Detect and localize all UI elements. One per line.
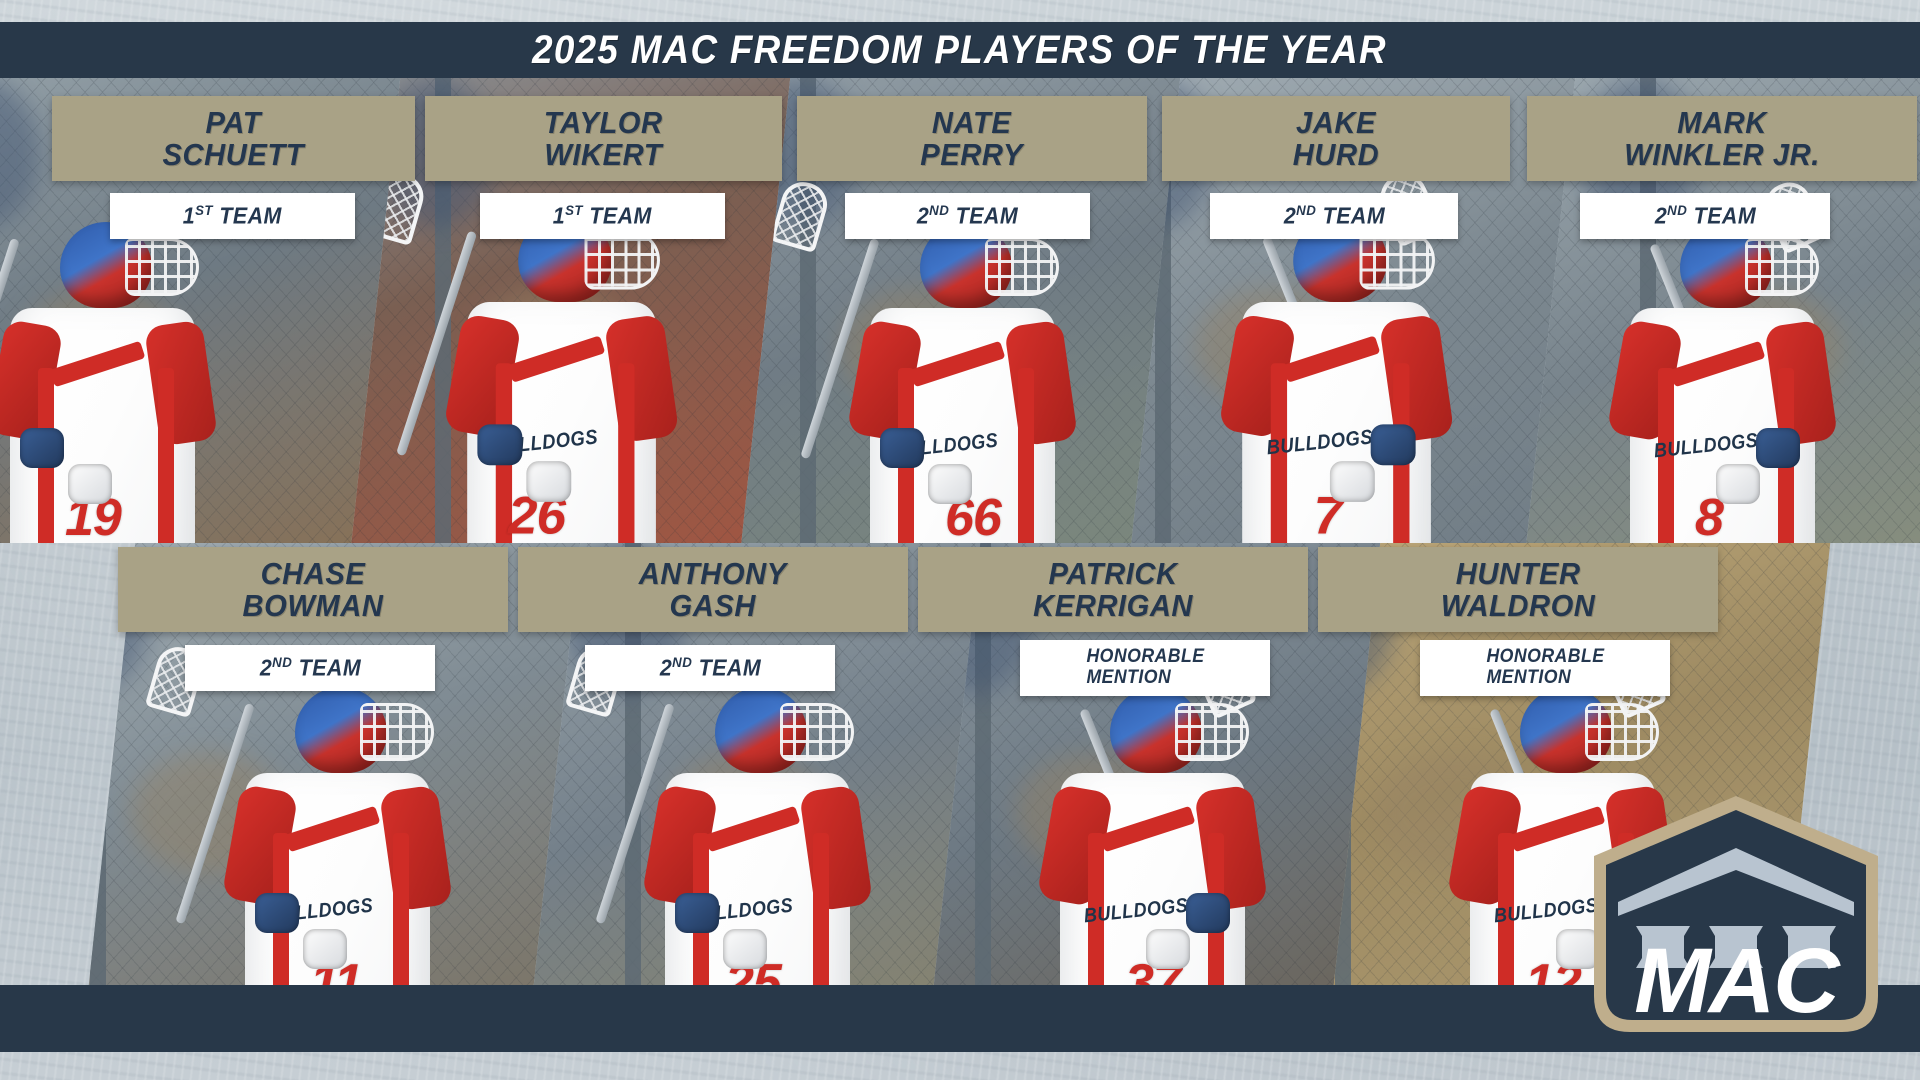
player-first-name: HUNTER	[1456, 556, 1581, 591]
player-last-name: WINKLER JR.	[1624, 139, 1820, 171]
player-first-name: ANTHONY	[639, 556, 787, 591]
player-last-name: WIKERT	[544, 139, 663, 171]
award-label: 2ND TEAM	[1654, 204, 1755, 228]
player-nameplate: JAKEHURD	[1162, 96, 1510, 181]
player-first-name: NATE	[932, 105, 1011, 140]
player-name: HUNTERWALDRON	[1435, 558, 1601, 621]
player-name: ANTHONYGASH	[633, 558, 792, 621]
player-last-name: PERRY	[921, 139, 1024, 171]
player-name: CHASEBOWMAN	[237, 558, 389, 621]
award-badge: 1ST TEAM	[110, 193, 355, 239]
player-nameplate: HUNTERWALDRON	[1318, 547, 1718, 632]
player-nameplate: ANTHONYGASH	[518, 547, 908, 632]
award-badge: 2ND TEAM	[185, 645, 435, 691]
player-last-name: KERRIGAN	[1033, 590, 1193, 622]
player-nameplate: MARKWINKLER JR.	[1527, 96, 1917, 181]
player-first-name: PATRICK	[1048, 556, 1177, 591]
player-nameplate: PATRICKKERRIGAN	[918, 547, 1308, 632]
award-label: HONORABLEMENTION	[1086, 647, 1204, 688]
player-name: TAYLORWIKERT	[538, 107, 668, 170]
player-last-name: GASH	[639, 590, 787, 622]
player-last-name: BOWMAN	[243, 590, 384, 622]
player-nameplate: NATEPERRY	[797, 96, 1147, 181]
award-label: 2ND TEAM	[917, 204, 1018, 228]
award-label: 2ND TEAM	[259, 656, 360, 680]
graphic-canvas: 19 BULLDOGS 26	[0, 0, 1920, 1080]
player-last-name: SCHUETT	[163, 139, 305, 171]
title-bar: 2025 MAC FREEDOM PLAYERS OF THE YEAR	[0, 22, 1920, 78]
award-badge: HONORABLEMENTION	[1420, 640, 1670, 696]
player-name: PATRICKKERRIGAN	[1027, 558, 1198, 621]
player-name: JAKEHURD	[1287, 107, 1385, 170]
award-badge: 2ND TEAM	[845, 193, 1090, 239]
award-label: 1ST TEAM	[183, 204, 282, 228]
award-label: 1ST TEAM	[553, 204, 652, 228]
player-first-name: TAYLOR	[544, 105, 663, 140]
player-first-name: JAKE	[1296, 105, 1376, 140]
player-first-name: MARK	[1677, 105, 1767, 140]
award-badge: 1ST TEAM	[480, 193, 725, 239]
award-badge: 2ND TEAM	[585, 645, 835, 691]
award-label: 2ND TEAM	[1283, 204, 1384, 228]
player-nameplate: TAYLORWIKERT	[425, 96, 782, 181]
player-name: NATEPERRY	[915, 107, 1029, 170]
player-nameplate: CHASEBOWMAN	[118, 547, 508, 632]
page-title: 2025 MAC FREEDOM PLAYERS OF THE YEAR	[533, 28, 1388, 73]
award-badge: HONORABLEMENTION	[1020, 640, 1270, 696]
player-last-name: WALDRON	[1441, 590, 1595, 622]
mac-logo-text: MAC	[1634, 930, 1841, 1032]
player-nameplate: PATSCHUETT	[52, 96, 415, 181]
player-first-name: CHASE	[261, 556, 366, 591]
mac-conference-logo: MAC	[1586, 790, 1886, 1040]
mac-logo-icon: MAC	[1586, 790, 1886, 1040]
player-name: MARKWINKLER JR.	[1619, 107, 1826, 170]
award-badge: 2ND TEAM	[1210, 193, 1458, 239]
player-last-name: HURD	[1293, 139, 1379, 171]
award-label: 2ND TEAM	[659, 656, 760, 680]
award-label: HONORABLEMENTION	[1486, 647, 1604, 688]
award-badge: 2ND TEAM	[1580, 193, 1830, 239]
player-first-name: PAT	[206, 105, 262, 140]
player-name: PATSCHUETT	[157, 107, 310, 170]
